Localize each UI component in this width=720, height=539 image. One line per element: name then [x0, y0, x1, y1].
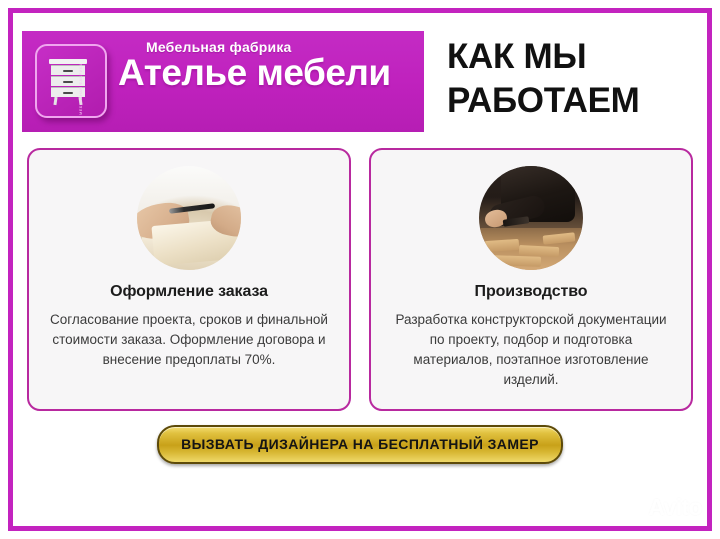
dresser-icon	[35, 44, 107, 118]
dresser-handle	[63, 81, 73, 83]
avito-dots-icon	[624, 499, 644, 517]
carpenter-workbench-photo	[479, 166, 583, 270]
dresser-leg	[53, 97, 57, 105]
headline-line-2: РАБОТАЕМ	[447, 79, 705, 123]
step-card-production: Производство Разработка конструкторской …	[369, 148, 693, 411]
hands-signing-document-photo	[137, 166, 241, 270]
cta-container: ВЫЗВАТЬ ДИЗАЙНЕРА НА БЕСПЛАТНЫЙ ЗАМЕР	[0, 425, 720, 464]
avito-wordmark: Avito	[648, 496, 702, 519]
step-card-body: Разработка конструкторской документации …	[389, 310, 673, 390]
header: МЕБЕЛЬНАЯ ФАБРИКА Мебельная фабрика Ател…	[13, 13, 707, 138]
logo-title: Ателье мебели	[118, 51, 418, 95]
step-card-order: Оформление заказа Согласование проекта, …	[27, 148, 351, 411]
dresser-handle	[63, 92, 73, 94]
step-card-title: Оформление заказа	[29, 283, 349, 301]
step-card-title: Производство	[371, 283, 691, 301]
wood-plank	[485, 239, 520, 252]
step-card-body: Согласование проекта, сроков и финальной…	[47, 310, 331, 370]
call-designer-button[interactable]: ВЫЗВАТЬ ДИЗАЙНЕРА НА БЕСПЛАТНЫЙ ЗАМЕР	[157, 425, 563, 464]
wood-plank	[493, 255, 541, 267]
logo-side-microtext: МЕБЕЛЬНАЯ ФАБРИКА	[78, 45, 88, 115]
avito-watermark: Avito	[624, 496, 702, 519]
logo-banner: МЕБЕЛЬНАЯ ФАБРИКА Мебельная фабрика Ател…	[22, 31, 424, 132]
poster: МЕБЕЛЬНАЯ ФАБРИКА Мебельная фабрика Ател…	[0, 0, 720, 539]
steps-card-list: Оформление заказа Согласование проекта, …	[27, 148, 694, 413]
headline-line-1: КАК МЫ	[447, 35, 705, 79]
wood-plank	[519, 245, 559, 257]
logo-text-group: Мебельная фабрика Ателье мебели	[118, 39, 418, 95]
dresser-handle	[63, 70, 73, 72]
page-title: КАК МЫ РАБОТАЕМ	[447, 35, 705, 123]
